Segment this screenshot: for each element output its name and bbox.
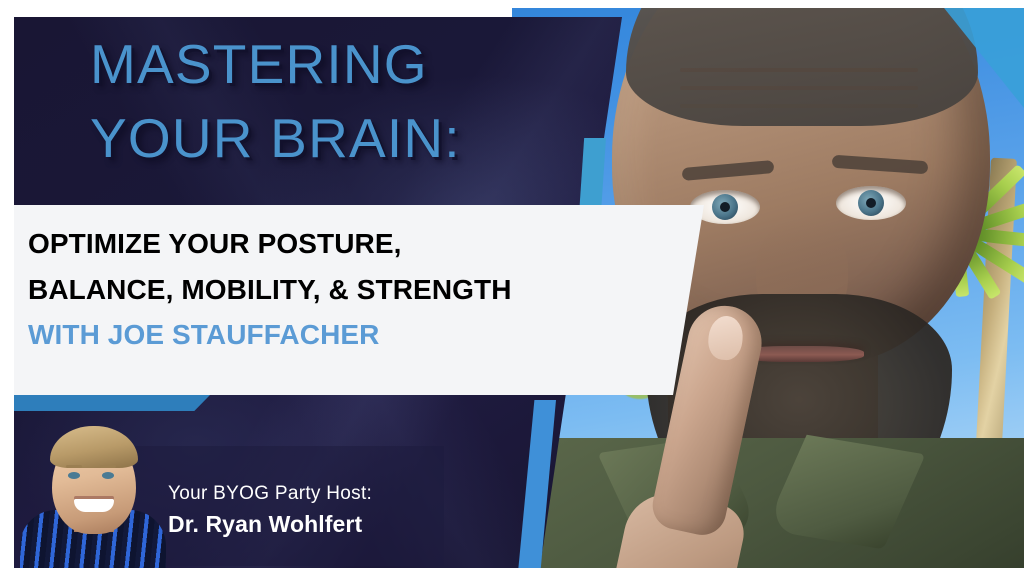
presenter-credit-line: WITH JOE STAUFFACHER [28,312,688,358]
frame-edge-left [0,0,14,576]
host-text-group: Your BYOG Party Host: Dr. Ryan Wohlfert [168,480,372,540]
presenter-eye-right [836,186,906,220]
avatar-eyebrow-right [100,465,116,468]
title-card: MASTERING YOUR BRAIN: OPTIMIZE YOUR POST… [0,0,1024,576]
subtitle-line-2: BALANCE, MOBILITY, & STRENGTH [28,267,688,313]
host-role-label: Your BYOG Party Host: [168,480,372,508]
presenter-hair [626,8,978,126]
avatar-eye-right [102,472,114,479]
avatar-eye-left [68,472,80,479]
page-title: MASTERING YOUR BRAIN: [90,28,560,175]
title-line-1: MASTERING [90,28,560,102]
avatar-hair [50,426,138,468]
subtitle-panel: OPTIMIZE YOUR POSTURE, BALANCE, MOBILITY… [0,205,704,395]
host-name: Dr. Ryan Wohlfert [168,508,372,540]
avatar-eyebrow-left [66,465,82,468]
avatar-smile [74,499,114,512]
host-avatar [18,414,166,568]
title-line-2: YOUR BRAIN: [90,102,560,176]
frame-edge-bottom [0,568,1024,576]
subtitle-line-1: OPTIMIZE YOUR POSTURE, [28,221,688,267]
presenter-forehead-lines [680,68,918,72]
subtitle-text-group: OPTIMIZE YOUR POSTURE, BALANCE, MOBILITY… [28,221,688,358]
blue-accent-underbar [14,395,210,411]
frame-edge-top [0,0,512,17]
